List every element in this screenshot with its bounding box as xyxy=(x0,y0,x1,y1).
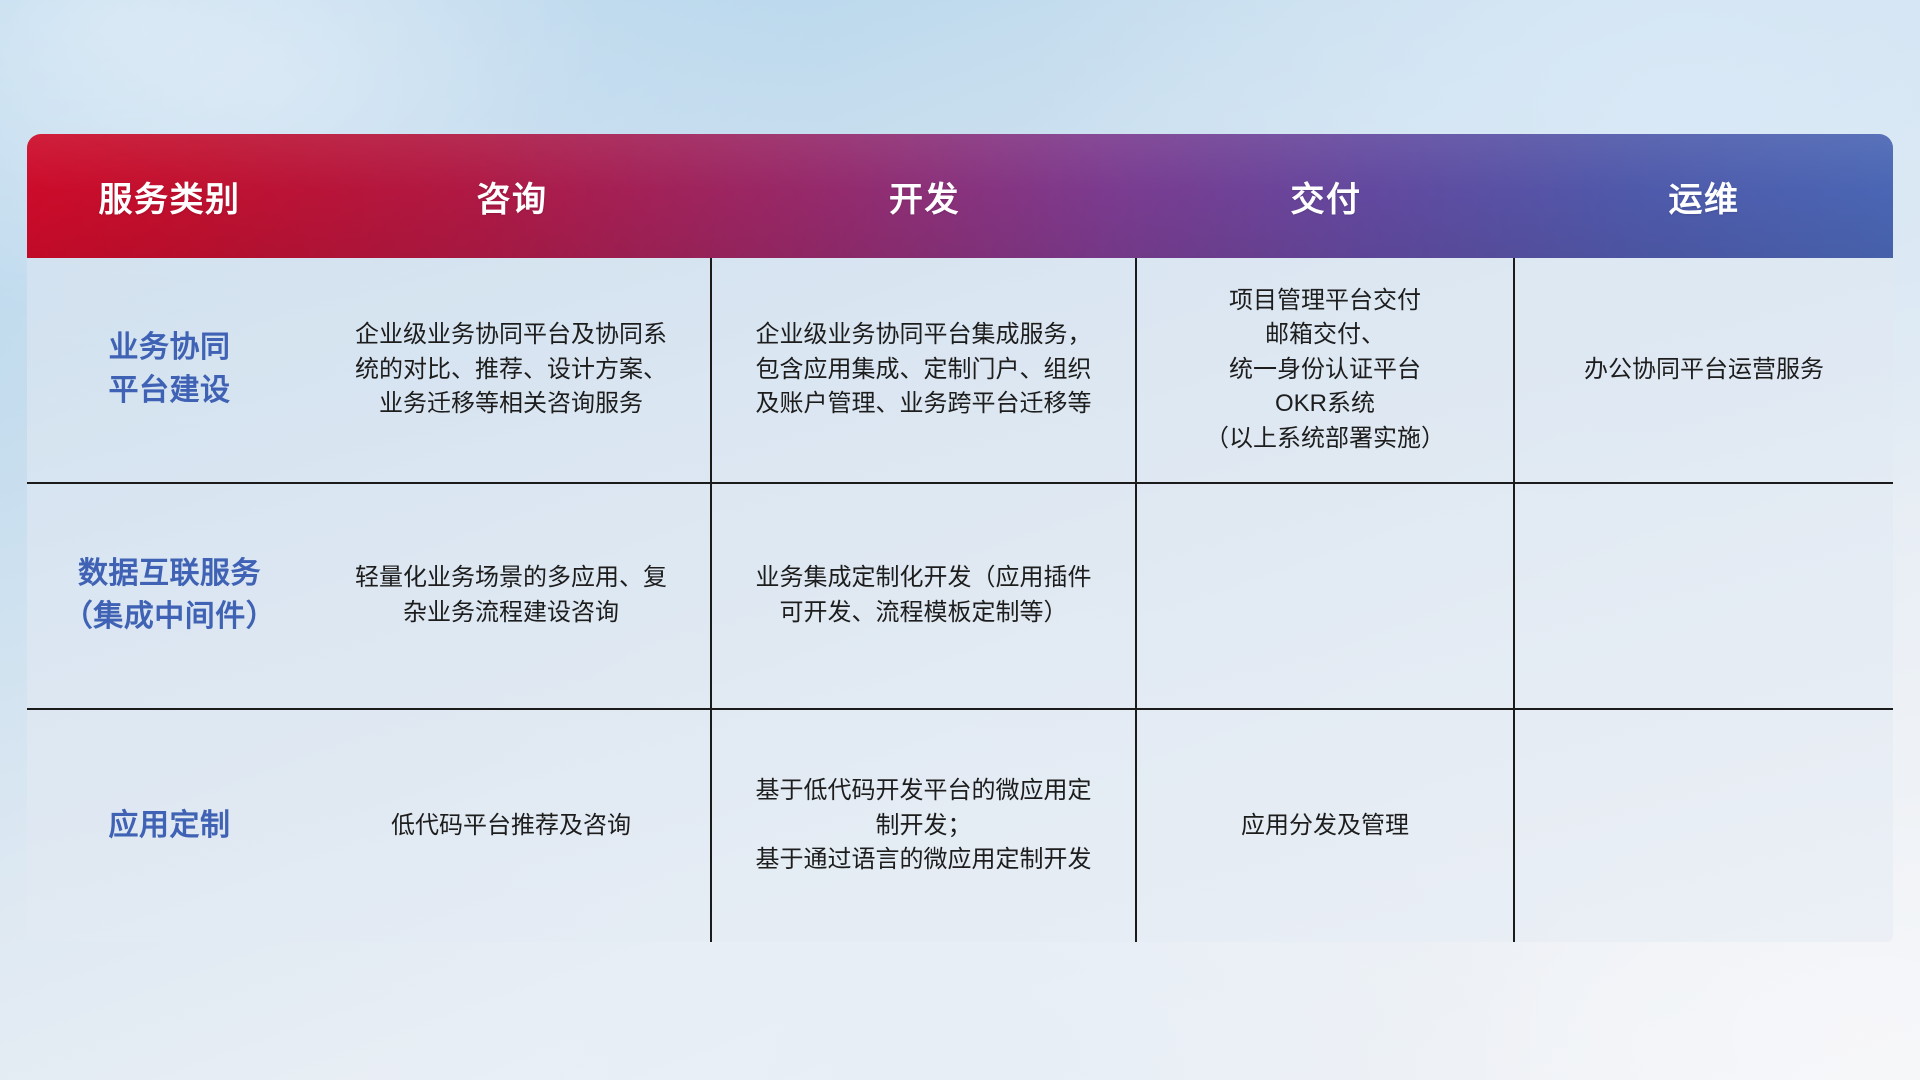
cell-development-row3: 基于低代码开发平台的微应用定 制开发； 基于通过语言的微应用定制开发 xyxy=(712,710,1137,942)
row-label-data-interconnect: 数据互联服务 （集成中间件） xyxy=(27,484,312,708)
cell-delivery-row2 xyxy=(1137,484,1515,708)
column-header-operations: 运维 xyxy=(1515,134,1893,258)
row-label-app-customization: 应用定制 xyxy=(27,710,312,942)
column-header-consulting: 咨询 xyxy=(312,134,712,258)
column-header-category: 服务类别 xyxy=(27,134,312,258)
column-header-delivery: 交付 xyxy=(1137,134,1515,258)
row-label-business-collaboration: 业务协同 平台建设 xyxy=(27,258,312,482)
column-header-development: 开发 xyxy=(712,134,1137,258)
cell-delivery-row1: 项目管理平台交付 邮箱交付、 统一身份认证平台 OKR系统 （以上系统部署实施） xyxy=(1137,258,1515,482)
cell-operations-row3 xyxy=(1515,710,1893,942)
table-row: 业务协同 平台建设 企业级业务协同平台及协同系 统的对比、推荐、设计方案、 业务… xyxy=(27,258,1893,484)
cell-development-row1: 企业级业务协同平台集成服务， 包含应用集成、定制门户、组织 及账户管理、业务跨平… xyxy=(712,258,1137,482)
table-body: 业务协同 平台建设 企业级业务协同平台及协同系 统的对比、推荐、设计方案、 业务… xyxy=(27,258,1893,942)
cell-operations-row1: 办公协同平台运营服务 xyxy=(1515,258,1893,482)
service-matrix-table: 服务类别 咨询 开发 交付 运维 业务协同 平台建设 企业级业务协同平台及协同系… xyxy=(27,134,1893,954)
cell-development-row2: 业务集成定制化开发（应用插件 可开发、流程模板定制等） xyxy=(712,484,1137,708)
slide-canvas: 服务类别 咨询 开发 交付 运维 业务协同 平台建设 企业级业务协同平台及协同系… xyxy=(0,0,1920,1080)
cell-consulting-row1: 企业级业务协同平台及协同系 统的对比、推荐、设计方案、 业务迁移等相关咨询服务 xyxy=(312,258,712,482)
table-row: 应用定制 低代码平台推荐及咨询 基于低代码开发平台的微应用定 制开发； 基于通过… xyxy=(27,710,1893,942)
cell-consulting-row2: 轻量化业务场景的多应用、复 杂业务流程建设咨询 xyxy=(312,484,712,708)
table-row: 数据互联服务 （集成中间件） 轻量化业务场景的多应用、复 杂业务流程建设咨询 业… xyxy=(27,484,1893,710)
cell-consulting-row3: 低代码平台推荐及咨询 xyxy=(312,710,712,942)
cell-delivery-row3: 应用分发及管理 xyxy=(1137,710,1515,942)
table-header-row: 服务类别 咨询 开发 交付 运维 xyxy=(27,134,1893,258)
cell-operations-row2 xyxy=(1515,484,1893,708)
